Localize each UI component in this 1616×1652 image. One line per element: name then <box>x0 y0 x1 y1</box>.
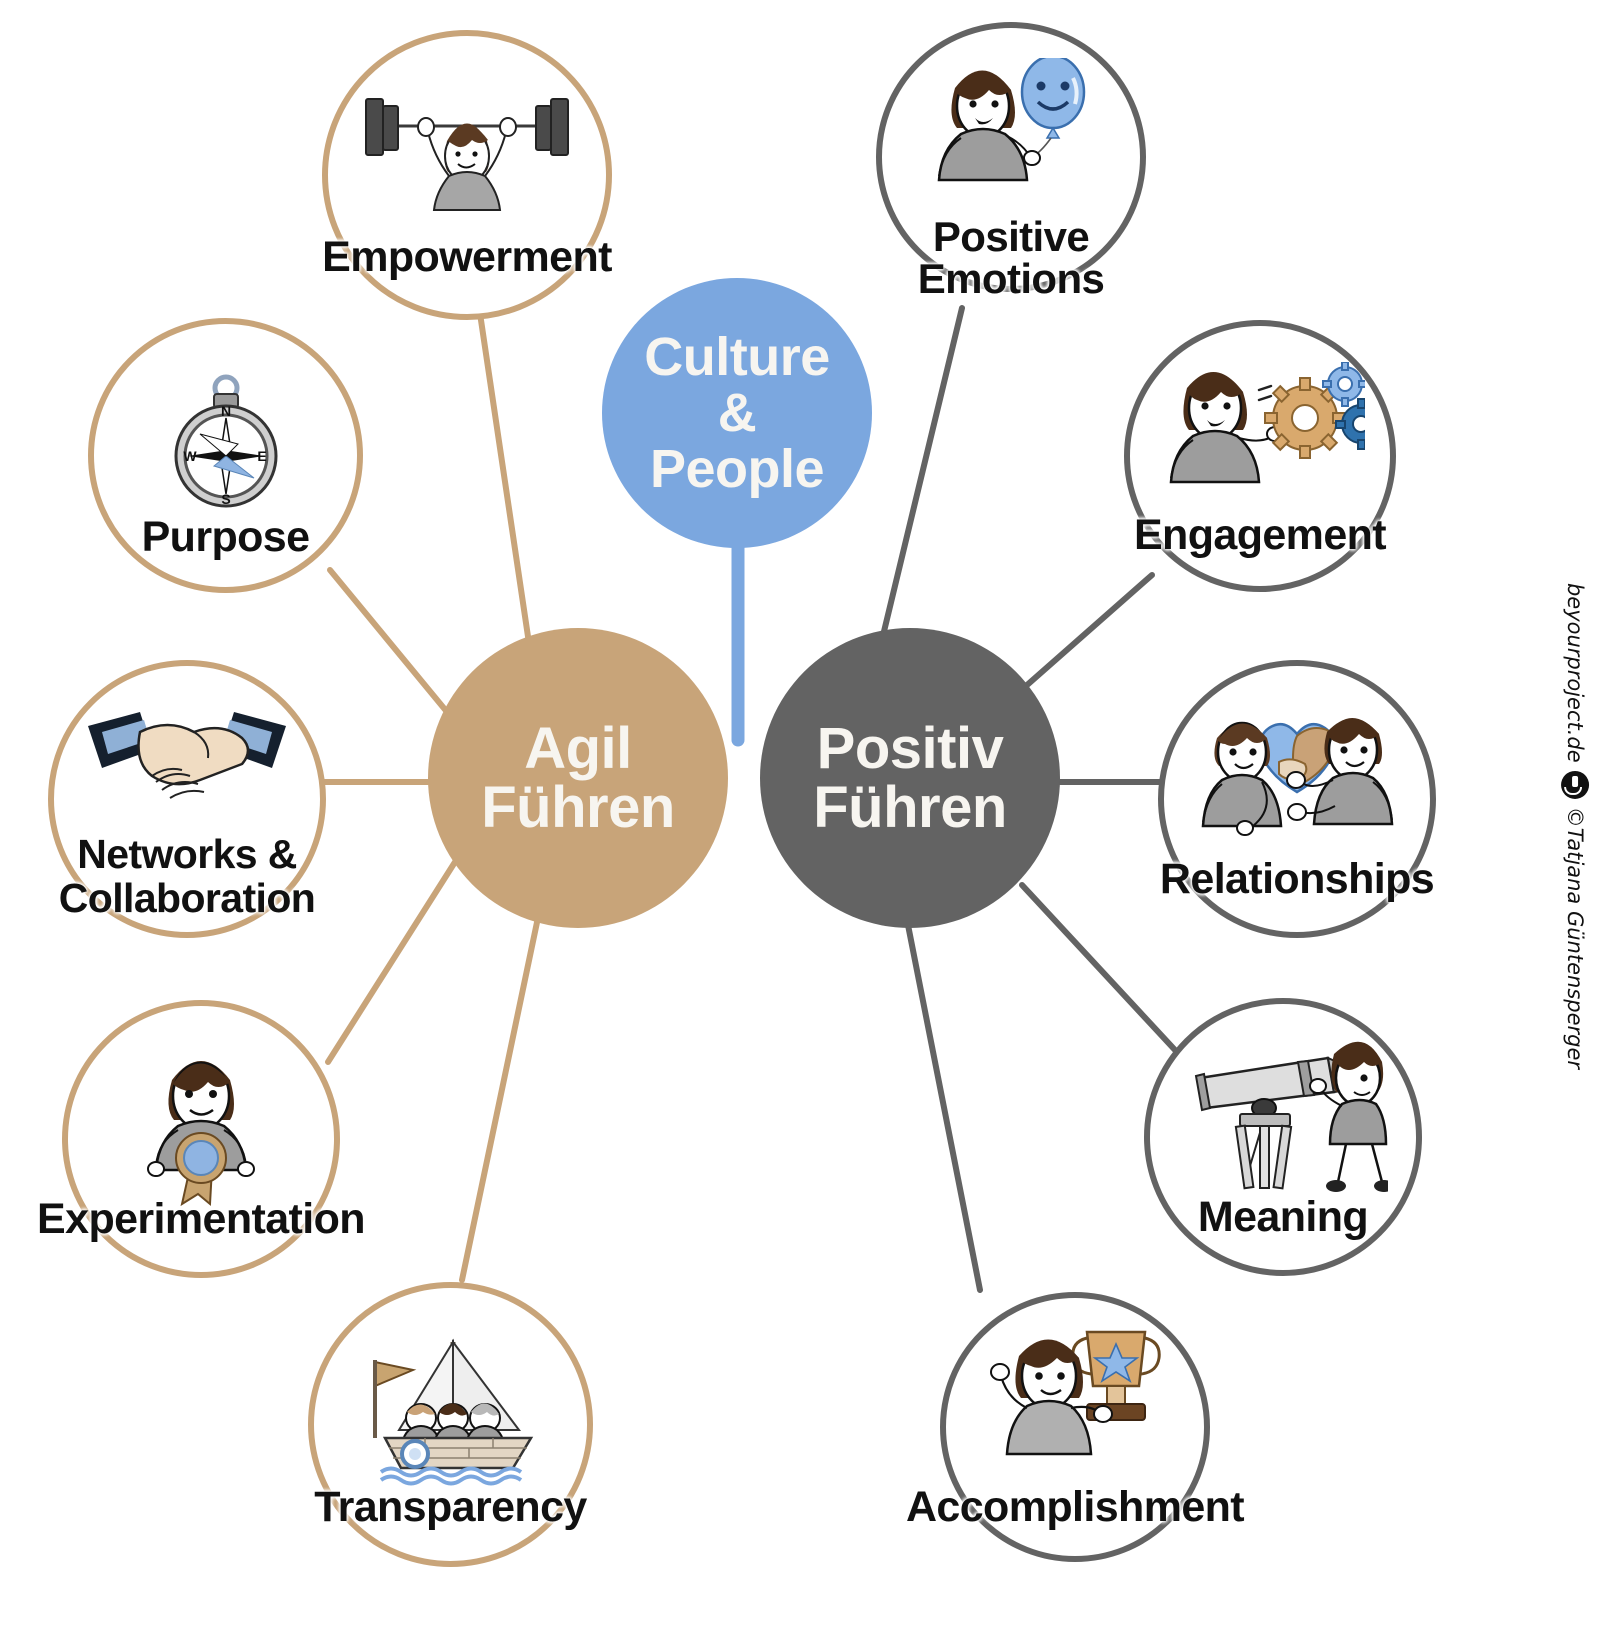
node-label-purpose: Purpose <box>142 516 310 559</box>
weightlifter-icon <box>352 84 582 214</box>
node-positive-emotions[interactable]: Positive Emotions <box>876 22 1146 292</box>
hub-agil-fuehren[interactable]: Agil Führen <box>428 628 728 928</box>
watermark: beyourproject.de ©Tatjana Güntensperger <box>1540 0 1610 1652</box>
node-accomplishment[interactable]: Accomplishment <box>940 1292 1210 1562</box>
hub-positiv-line-1: Positiv <box>813 719 1007 778</box>
node-label-positive-emotions-line1: Positive <box>933 216 1089 258</box>
watermark-site: beyourproject.de <box>1563 583 1587 763</box>
culture-line-3: People <box>644 441 830 497</box>
hub-agil-line-1: Agil <box>481 719 675 778</box>
node-label-empowerment: Empowerment <box>322 236 612 279</box>
node-engagement[interactable]: Engagement <box>1124 320 1396 592</box>
person-balloon-smiley-icon <box>921 58 1101 208</box>
node-label-relationships: Relationships <box>1160 858 1434 901</box>
beyourproject-logo-icon <box>1561 771 1589 799</box>
svg-text:E: E <box>257 448 266 464</box>
culture-line-1: Culture <box>644 329 830 385</box>
node-label-engagement: Engagement <box>1134 514 1386 557</box>
svg-text:N: N <box>220 403 230 419</box>
hub-agil-line-2: Führen <box>481 778 675 837</box>
connector-positiv-accomplishment <box>908 925 980 1290</box>
node-meaning[interactable]: Meaning <box>1144 998 1422 1276</box>
connector-agil-purpose <box>330 570 452 718</box>
connector-positiv-meaning <box>1022 885 1175 1050</box>
person-trophy-icon <box>975 1324 1175 1474</box>
connector-agil-transparency <box>462 908 540 1280</box>
node-networks-collaboration[interactable]: Networks & Collaboration <box>48 660 326 938</box>
node-purpose[interactable]: N S W E Purpose <box>88 318 363 593</box>
watermark-copyright: ©Tatjana Güntensperger <box>1563 807 1587 1069</box>
culture-line-2: & <box>644 385 830 441</box>
svg-text:W: W <box>183 448 197 464</box>
connector-agil-empowerment <box>478 300 530 650</box>
node-label-experimentation: Experimentation <box>37 1198 365 1241</box>
node-label-networks-line2: Collaboration <box>59 878 315 919</box>
node-label-meaning: Meaning <box>1198 1196 1368 1239</box>
hub-positiv-line-2: Führen <box>813 778 1007 837</box>
node-label-accomplishment: Accomplishment <box>906 1486 1244 1529</box>
culture-and-people-bubble[interactable]: Culture & People <box>602 278 872 548</box>
hub-positiv-fuehren[interactable]: Positiv Führen <box>760 628 1060 928</box>
node-label-transparency: Transparency <box>314 1486 586 1529</box>
person-award-ribbon-icon <box>116 1038 286 1208</box>
connector-positiv-engagement <box>1010 575 1152 700</box>
telescope-icon <box>1178 1036 1388 1206</box>
two-people-heart-handshake-icon <box>1189 700 1405 850</box>
sailboat-crew-icon <box>341 1326 561 1486</box>
node-label-positive-emotions-line2: Emotions <box>918 258 1105 300</box>
infographic-canvas: Empowerment N S W E Purpose <box>0 0 1616 1652</box>
connector-agil-experimentation <box>328 862 455 1062</box>
connector-positiv-positive-emotions <box>880 308 962 648</box>
node-empowerment[interactable]: Empowerment <box>322 30 612 320</box>
node-relationships[interactable]: Relationships <box>1158 660 1436 938</box>
node-label-networks-line1: Networks & <box>77 834 297 875</box>
handshake-icon <box>82 706 292 816</box>
node-experimentation[interactable]: Experimentation <box>62 1000 340 1278</box>
compass-icon: N S W E <box>156 366 296 516</box>
svg-text:S: S <box>221 491 230 507</box>
person-gears-icon <box>1155 362 1365 502</box>
node-transparency[interactable]: Transparency <box>308 1282 593 1567</box>
